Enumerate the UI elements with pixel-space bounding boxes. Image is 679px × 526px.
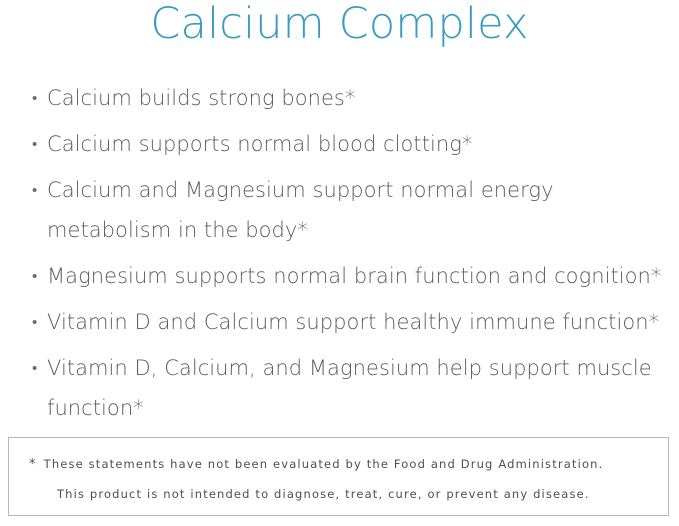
claim-text: Magnesium supports normal brain function… — [47, 256, 670, 296]
bullet-icon: • — [32, 78, 37, 118]
bullet-icon: • — [32, 124, 37, 164]
claims-list: • Calcium builds strong bones* • Calcium… — [30, 78, 670, 434]
disclaimer-text-2: This product is not intended to diagnose… — [57, 487, 590, 501]
product-claims-panel: Calcium Complex • Calcium builds strong … — [0, 0, 679, 526]
claim-text: Vitamin D, Calcium, and Magnesium help s… — [47, 348, 670, 428]
bullet-icon: • — [32, 170, 37, 210]
claim-text: Calcium builds strong bones* — [47, 78, 670, 118]
bullet-icon: • — [32, 302, 37, 342]
list-item: • Calcium supports normal blood clotting… — [30, 124, 670, 164]
asterisk-icon: * — [29, 457, 44, 472]
page-title: Calcium Complex — [0, 0, 679, 50]
list-item: • Vitamin D and Calcium support healthy … — [30, 302, 670, 342]
disclaimer-line-2: This product is not intended to diagnose… — [9, 487, 679, 501]
bullet-icon: • — [32, 348, 37, 388]
disclaimer-text-1: These statements have not been evaluated… — [44, 457, 604, 471]
bullet-icon: • — [32, 256, 37, 296]
list-item: • Calcium and Magnesium support normal e… — [30, 170, 670, 250]
claim-text: Vitamin D and Calcium support healthy im… — [47, 302, 670, 342]
fda-disclaimer-box: *These statements have not been evaluate… — [8, 437, 669, 516]
disclaimer-line-1: *These statements have not been evaluate… — [9, 457, 679, 472]
list-item: • Calcium builds strong bones* — [30, 78, 670, 118]
list-item: • Vitamin D, Calcium, and Magnesium help… — [30, 348, 670, 428]
claim-text: Calcium supports normal blood clotting* — [47, 124, 670, 164]
claim-text: Calcium and Magnesium support normal ene… — [47, 170, 670, 250]
list-item: • Magnesium supports normal brain functi… — [30, 256, 670, 296]
